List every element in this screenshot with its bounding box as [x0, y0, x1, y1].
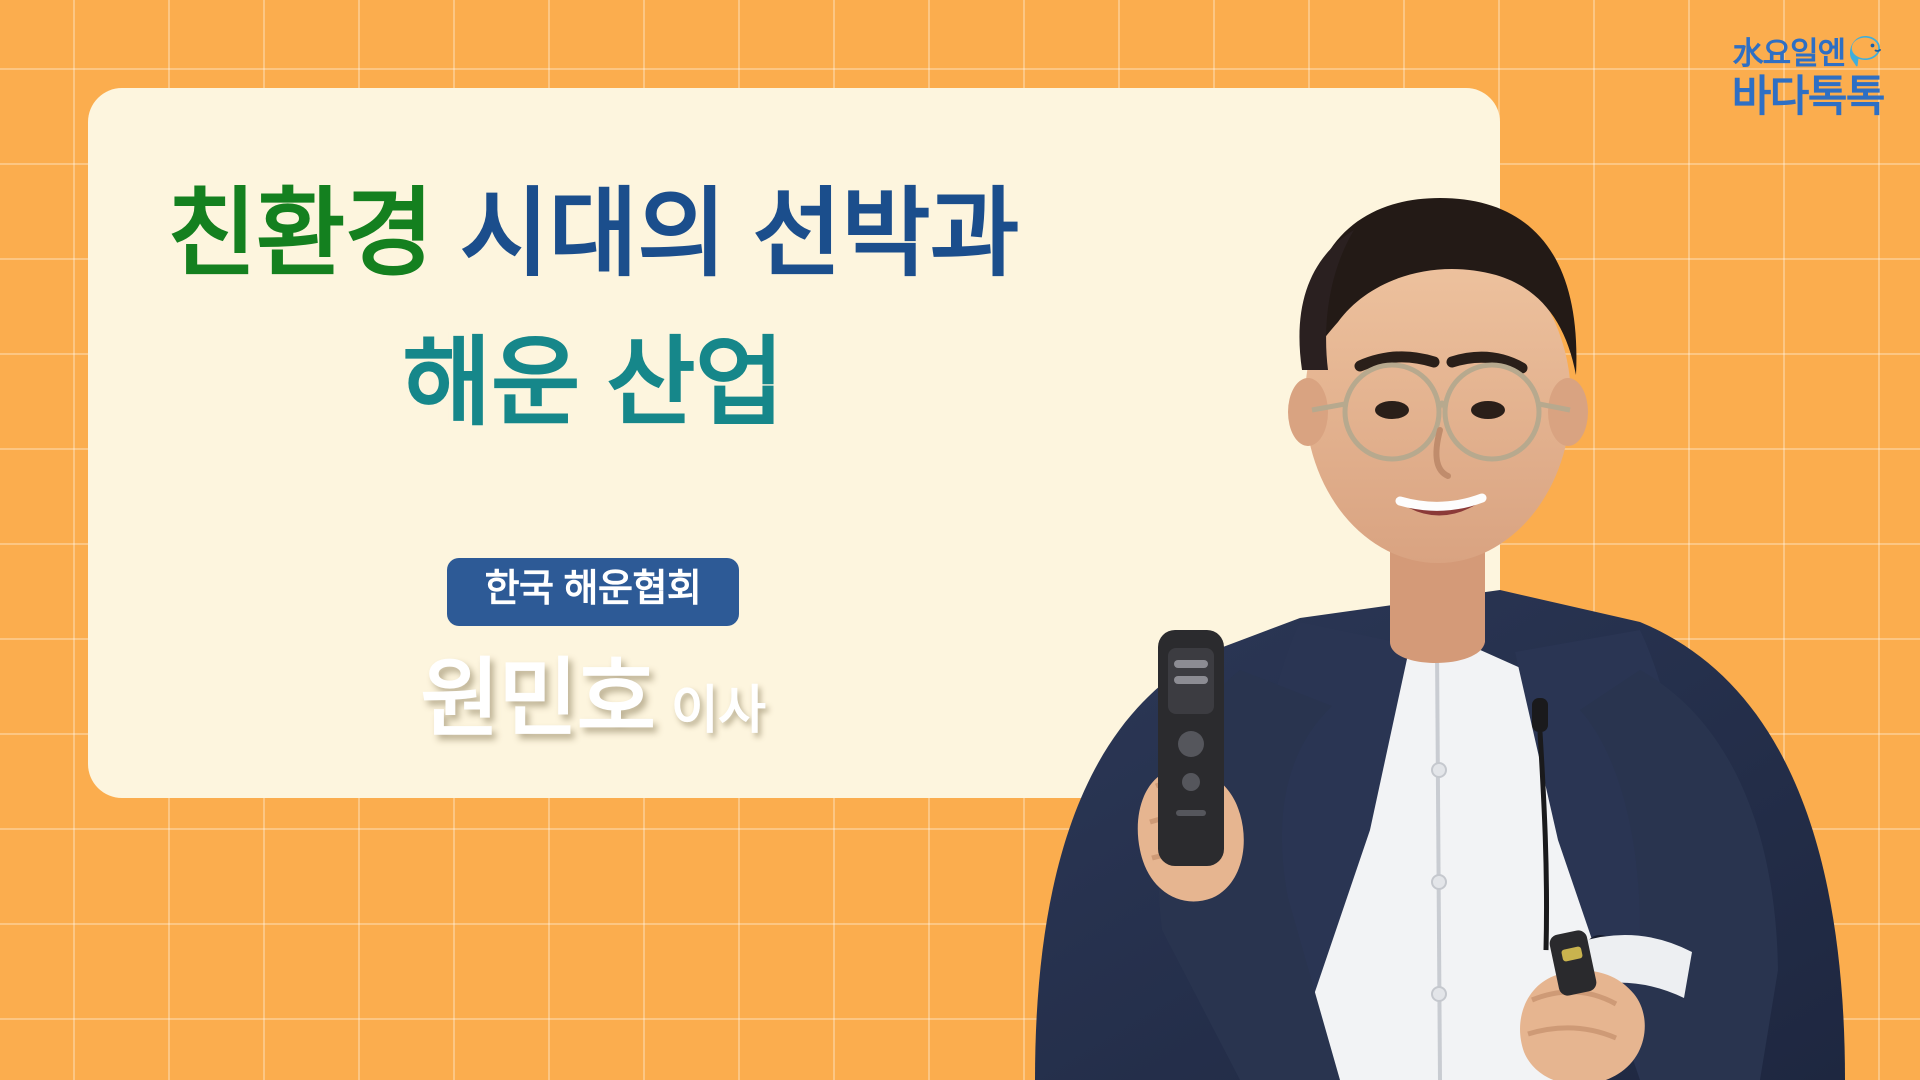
brand-logo-line-top: 水요일엔: [1733, 38, 1846, 69]
speaker-name-row: 원민호이사: [88, 628, 1098, 753]
title-line-1: 친환경 시대의 선박과: [88, 185, 1098, 282]
title-segment-era-and-ships: 시대의 선박과: [433, 179, 1018, 288]
title-segment-eco: 친환경: [167, 179, 433, 288]
whale-speech-bubble-icon: [1849, 34, 1883, 72]
title-segment-shipping-industry: 해운 산업: [402, 328, 783, 437]
speaker-name: 원민호: [420, 651, 654, 747]
organization-badge: 한국 해운협회: [447, 558, 740, 626]
organization-badge-container: 한국 해운협회: [88, 558, 1098, 626]
brand-logo-top-row: 水요일엔: [1732, 34, 1884, 72]
brand-logo-line-bottom: 바다톡톡: [1732, 76, 1884, 119]
lecture-title: 친환경 시대의 선박과 해운 산업: [88, 185, 1098, 431]
speaker-position: 이사: [671, 682, 766, 740]
title-line-2: 해운 산업: [88, 334, 1098, 431]
brand-logo: 水요일엔 바다톡톡: [1732, 34, 1884, 119]
